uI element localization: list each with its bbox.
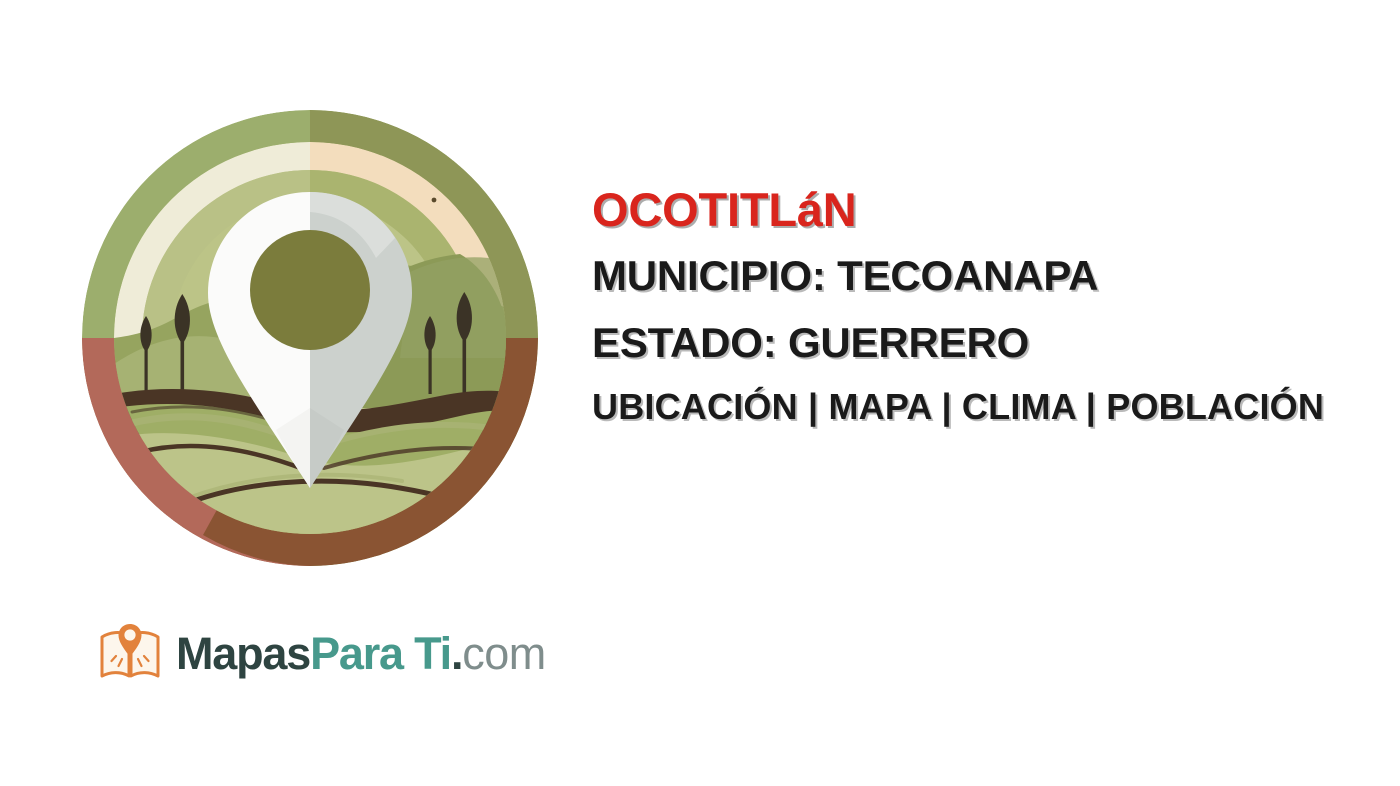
brand-name-part1: Mapas [176, 628, 310, 679]
sections-nav-line: UBICACIÓN | MAPA | CLIMA | POBLACIÓN [592, 389, 1382, 425]
place-info-block: OCOTITLáN MUNICIPIO: TECOANAPA ESTADO: G… [592, 186, 1382, 425]
estado-line: ESTADO: GUERRERO [592, 322, 1382, 364]
brand-name-tld: com [462, 628, 546, 679]
brand-name-part2: Para Ti [310, 628, 451, 679]
page-root: OCOTITLáN MUNICIPIO: TECOANAPA ESTADO: G… [0, 0, 1400, 786]
municipio-line: MUNICIPIO: TECOANAPA [592, 255, 1382, 297]
brand-logo[interactable]: MapasPara Ti.com [98, 622, 546, 684]
open-book-with-location-pin-icon [98, 622, 162, 684]
brand-name-dot: . [451, 628, 462, 679]
page-title: OCOTITLáN [592, 186, 1382, 233]
brand-wordmark: MapasPara Ti.com [176, 631, 546, 676]
rural-landscape-badge-illustration [80, 108, 540, 568]
